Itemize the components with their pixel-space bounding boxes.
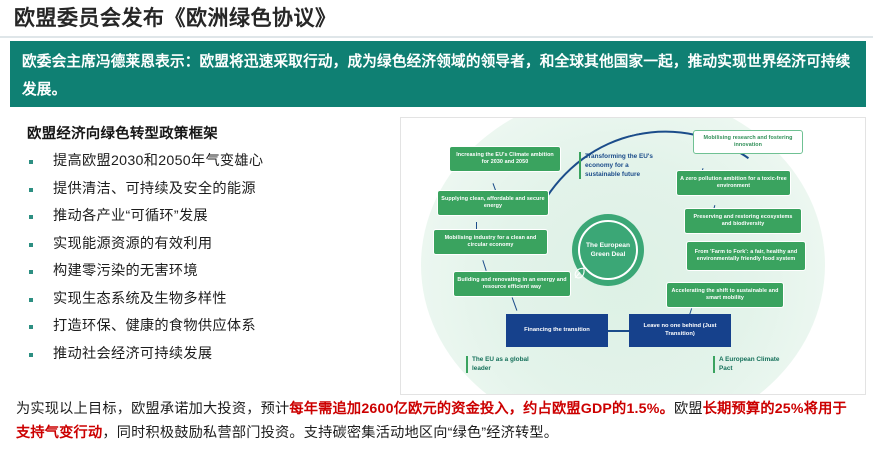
- bullet-marker-icon: [29, 325, 33, 329]
- bullet-marker-icon: [29, 353, 33, 357]
- diagram-box-just-transition: Leave no one behind (Just Transition): [629, 314, 731, 347]
- list-item: 推动各产业“可循环”发展: [18, 205, 393, 227]
- paragraph-segment-1: 为实现以上目标，欧盟承诺加大投资，预计: [16, 401, 289, 417]
- footer-label-climate-pact: A European Climate Pact: [713, 356, 793, 373]
- bullet-marker-icon: [29, 298, 33, 302]
- diagram-box-financing: Financing the transition: [506, 314, 608, 347]
- list-item: 推动社会经济可持续发展: [18, 343, 393, 365]
- list-item: 实现生态系统及生物多样性: [18, 288, 393, 310]
- diagram-box-research-innovation: Mobilising research and fostering innova…: [693, 130, 803, 154]
- diagram-box-mobility: Accelerating the shift to sustainable an…: [666, 282, 784, 308]
- bullet-marker-icon: [29, 160, 33, 164]
- footer-label-global-leader: The EU as a global leader: [466, 356, 546, 373]
- green-deal-diagram: Increasing the EU's Climate ambition for…: [400, 117, 866, 395]
- diagram-box-farm-to-fork: From 'Farm to Fork': a fair, healthy and…: [686, 241, 806, 271]
- diagram-box-building-renovating: Building and renovating in an energy and…: [453, 271, 571, 297]
- policy-framework-heading: 欧盟经济向绿色转型政策框架: [27, 122, 393, 143]
- center-circle-label: The European Green Deal: [578, 220, 638, 280]
- diagram-box-climate-ambition: Increasing the EU's Climate ambition for…: [449, 146, 561, 172]
- connector-line: [607, 330, 631, 332]
- quote-banner: 欧委会主席冯德莱恩表示：欧盟将迅速采取行动，成为绿色经济领域的领导者，和全球其他…: [10, 41, 866, 107]
- transforming-label: Transforming the EU's economy for a sust…: [579, 152, 659, 179]
- bullet-marker-icon: [29, 215, 33, 219]
- bullet-label: 推动各产业“可循环”发展: [53, 205, 208, 227]
- bullet-label: 推动社会经济可持续发展: [53, 343, 212, 365]
- bullet-label: 提高欧盟2030和2050年气变雄心: [53, 150, 263, 172]
- leaf-icon: [573, 266, 586, 279]
- list-item: 提供清洁、可持续及安全的能源: [18, 178, 393, 200]
- policy-bullet-list: 提高欧盟2030和2050年气变雄心 提供清洁、可持续及安全的能源 推动各产业“…: [18, 150, 393, 365]
- title-divider: [0, 36, 873, 38]
- diagram-box-clean-energy: Supplying clean, affordable and secure e…: [437, 190, 549, 216]
- list-item: 实现能源资源的有效利用: [18, 233, 393, 255]
- bullet-label: 实现能源资源的有效利用: [53, 233, 212, 255]
- diagram-box-ecosystems: Preserving and restoring ecosystems and …: [684, 208, 802, 234]
- bullet-label: 提供清洁、可持续及安全的能源: [53, 178, 256, 200]
- bullet-label: 实现生态系统及生物多样性: [53, 288, 227, 310]
- bullet-marker-icon: [29, 188, 33, 192]
- bullet-label: 构建零污染的无害环境: [53, 260, 198, 282]
- bullet-marker-icon: [29, 270, 33, 274]
- paragraph-segment-2: 欧盟: [674, 401, 703, 417]
- bullet-label: 打造环保、健康的食物供应体系: [53, 315, 256, 337]
- bullet-marker-icon: [29, 243, 33, 247]
- paragraph-highlight-1: 每年需追加2600亿欧元的资金投入，约占欧盟GDP的1.5%。: [289, 401, 674, 417]
- diagram-box-zero-pollution: A zero pollution ambition for a toxic-fr…: [676, 170, 791, 196]
- policy-framework-panel: 欧盟经济向绿色转型政策框架 提高欧盟2030和2050年气变雄心 提供清洁、可持…: [18, 122, 393, 370]
- list-item: 提高欧盟2030和2050年气变雄心: [18, 150, 393, 172]
- page-title: 欧盟委员会发布《欧洲绿色协议》: [14, 2, 337, 32]
- list-item: 打造环保、健康的食物供应体系: [18, 315, 393, 337]
- paragraph-segment-3: ，同时积极鼓励私营部门投资。支持碳密集活动地区向“绿色”经济转型。: [102, 425, 558, 441]
- diagram-box-industry: Mobilising industry for a clean and circ…: [433, 229, 548, 255]
- slide-root: 欧盟委员会发布《欧洲绿色协议》 欧委会主席冯德莱恩表示：欧盟将迅速采取行动，成为…: [0, 0, 873, 472]
- bottom-paragraph: 为实现以上目标，欧盟承诺加大投资，预计每年需追加2600亿欧元的资金投入，约占欧…: [16, 398, 861, 445]
- list-item: 构建零污染的无害环境: [18, 260, 393, 282]
